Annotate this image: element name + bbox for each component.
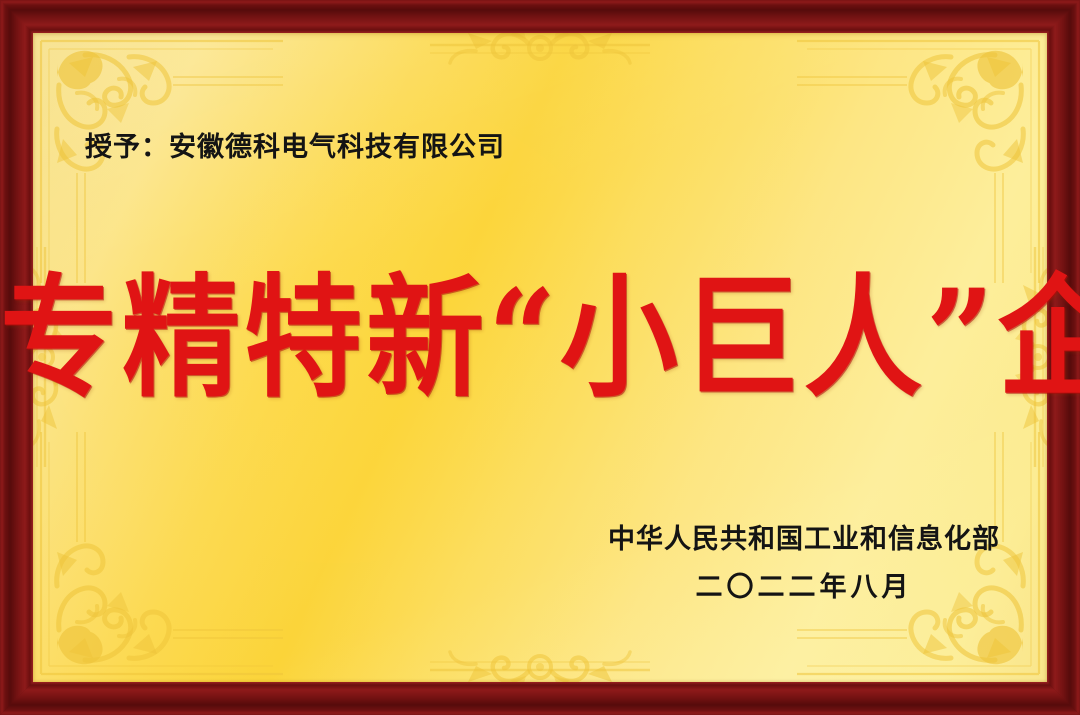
edge-ornament-bottom-center (430, 652, 650, 682)
issue-date: 二〇二二年八月 (608, 572, 1000, 604)
corner-ornament-top-right (797, 41, 1039, 283)
issuing-organization: 中华人民共和国工业和信息化部 (608, 524, 1000, 556)
frame-bottom-rail (0, 681, 1080, 715)
certificate-plaque: 授予：安徽德科电气科技有限公司 专精特新“小巨人”企业 中华人民共和国工业和信息… (0, 0, 1080, 715)
frame-top-rail (0, 0, 1080, 34)
edge-ornament-top-center (430, 33, 650, 63)
corner-ornament-bottom-left (41, 432, 283, 674)
signature-block: 中华人民共和国工业和信息化部 二〇二二年八月 (608, 524, 1000, 605)
plaque-title: 专精特新“小巨人”企业 (0, 272, 1080, 404)
award-recipient-line: 授予：安徽德科电气科技有限公司 (85, 125, 505, 164)
